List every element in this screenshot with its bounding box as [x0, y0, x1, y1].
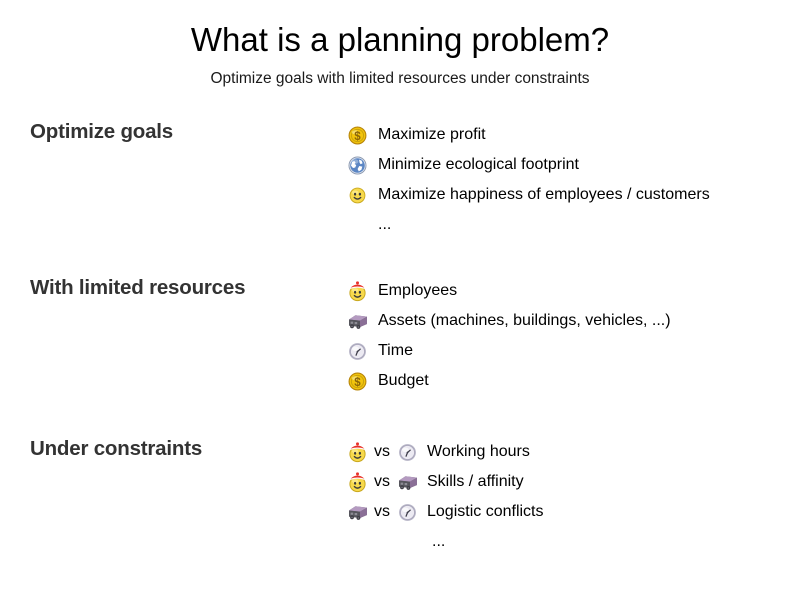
list-item: vs Logistic conflicts	[345, 497, 544, 527]
list-item: Minimize ecological footprint	[345, 150, 710, 180]
list-item-more: ...	[345, 210, 710, 240]
assets-icon	[345, 311, 369, 331]
list-item-label: Assets (machines, buildings, vehicles, .…	[378, 311, 671, 331]
item-list-optimize-goals: $ Maximize profit Minimize ecological fo…	[345, 120, 710, 240]
list-item-label: Time	[378, 341, 413, 361]
list-item: $ Budget	[345, 366, 671, 396]
smiley-icon	[345, 185, 369, 205]
list-item-label: Employees	[378, 281, 457, 301]
section-heading-limited-resources: With limited resources	[30, 276, 245, 300]
item-list-under-constraints: vs Working hours	[345, 437, 544, 557]
list-item-label: Working hours	[427, 442, 530, 462]
list-item: Employees	[345, 276, 671, 306]
list-item: Time	[345, 336, 671, 366]
employee-icon	[345, 281, 369, 301]
ellipsis-text: ...	[432, 532, 445, 552]
coin-icon: $	[345, 371, 369, 391]
vs-label: vs	[374, 442, 390, 462]
employee-icon	[345, 472, 369, 492]
list-item: Maximize happiness of employees / custom…	[345, 180, 710, 210]
assets-icon	[345, 502, 369, 522]
clock-icon	[395, 442, 419, 462]
clock-icon	[345, 341, 369, 361]
list-item-label: Skills / affinity	[427, 472, 524, 492]
assets-icon	[395, 472, 419, 492]
list-item-label: Minimize ecological footprint	[378, 155, 579, 175]
list-item: vs Skills / affinity	[345, 467, 544, 497]
list-item: vs Working hours	[345, 437, 544, 467]
section-heading-under-constraints: Under constraints	[30, 437, 202, 461]
list-item-more: ...	[345, 527, 544, 557]
ellipsis-text: ...	[378, 215, 391, 235]
coin-icon: $	[345, 125, 369, 145]
list-item-label: Logistic conflicts	[427, 502, 544, 522]
globe-icon	[345, 155, 369, 175]
list-item-label: Maximize profit	[378, 125, 486, 145]
list-item-label: Maximize happiness of employees / custom…	[378, 185, 710, 205]
svg-text:$: $	[354, 377, 361, 389]
vs-label: vs	[374, 472, 390, 492]
employee-icon	[345, 442, 369, 462]
list-item-label: Budget	[378, 371, 429, 391]
list-item: $ Maximize profit	[345, 120, 710, 150]
item-list-limited-resources: Employees Assets (machines, buildings, v…	[345, 276, 671, 396]
section-heading-optimize-goals: Optimize goals	[30, 120, 173, 144]
vs-label: vs	[374, 502, 390, 522]
svg-text:$: $	[354, 131, 361, 143]
list-item: Assets (machines, buildings, vehicles, .…	[345, 306, 671, 336]
page-subtitle: Optimize goals with limited resources un…	[0, 69, 800, 89]
page-title: What is a planning problem?	[0, 20, 800, 60]
clock-icon	[395, 502, 419, 522]
